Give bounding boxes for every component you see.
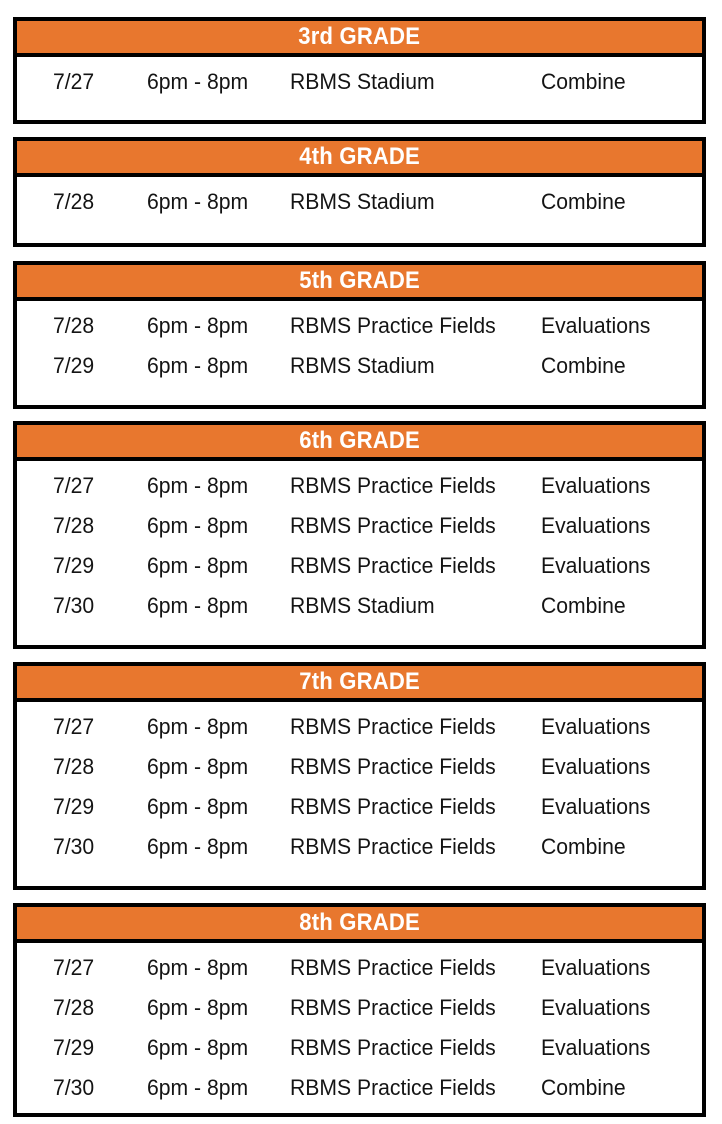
cell-date: 7/27: [53, 948, 94, 988]
grade-section-rows: 7/276pm - 8pmRBMS Practice FieldsEvaluat…: [17, 702, 702, 867]
table-row: 7/306pm - 8pmRBMS Practice FieldsCombine: [17, 1068, 702, 1108]
grade-section-header-label: 4th GRADE: [299, 145, 420, 169]
cell-type: Evaluations: [541, 948, 650, 988]
table-row: 7/276pm - 8pmRBMS StadiumCombine: [17, 62, 702, 102]
cell-date: 7/28: [53, 506, 94, 546]
cell-time: 6pm - 8pm: [147, 1028, 248, 1068]
cell-type: Evaluations: [541, 787, 650, 827]
table-row: 7/296pm - 8pmRBMS Practice FieldsEvaluat…: [17, 1028, 702, 1068]
cell-type: Evaluations: [541, 306, 650, 346]
grade-section: 7th GRADE7/276pm - 8pmRBMS Practice Fiel…: [13, 662, 706, 890]
cell-location: RBMS Practice Fields: [290, 827, 496, 867]
cell-time: 6pm - 8pm: [147, 827, 248, 867]
cell-location: RBMS Practice Fields: [290, 948, 496, 988]
cell-type: Combine: [541, 827, 626, 867]
grade-section-header-label: 8th GRADE: [299, 911, 420, 935]
cell-date: 7/29: [53, 1028, 94, 1068]
cell-time: 6pm - 8pm: [147, 787, 248, 827]
grade-section: 5th GRADE7/286pm - 8pmRBMS Practice Fiel…: [13, 261, 706, 409]
cell-location: RBMS Stadium: [290, 62, 435, 102]
table-row: 7/296pm - 8pmRBMS Practice FieldsEvaluat…: [17, 546, 702, 586]
cell-time: 6pm - 8pm: [147, 1068, 248, 1108]
cell-type: Combine: [541, 62, 626, 102]
grade-section-header-label: 7th GRADE: [299, 670, 420, 694]
cell-date: 7/30: [53, 1068, 94, 1108]
cell-type: Evaluations: [541, 1028, 650, 1068]
grade-section-header: 3rd GRADE: [17, 21, 702, 57]
cell-time: 6pm - 8pm: [147, 306, 248, 346]
cell-date: 7/29: [53, 787, 94, 827]
cell-type: Combine: [541, 346, 626, 386]
cell-time: 6pm - 8pm: [147, 466, 248, 506]
cell-location: RBMS Practice Fields: [290, 988, 496, 1028]
cell-location: RBMS Practice Fields: [290, 306, 496, 346]
grade-schedule-table: 3rd GRADE7/276pm - 8pmRBMS StadiumCombin…: [0, 0, 722, 1124]
cell-date: 7/29: [53, 346, 94, 386]
cell-date: 7/28: [53, 306, 94, 346]
grade-section-header-label: 3rd GRADE: [299, 25, 421, 49]
cell-type: Evaluations: [541, 466, 650, 506]
cell-time: 6pm - 8pm: [147, 546, 248, 586]
grade-section-header: 4th GRADE: [17, 141, 702, 177]
cell-time: 6pm - 8pm: [147, 988, 248, 1028]
grade-section: 6th GRADE7/276pm - 8pmRBMS Practice Fiel…: [13, 421, 706, 649]
cell-type: Evaluations: [541, 988, 650, 1028]
cell-location: RBMS Practice Fields: [290, 506, 496, 546]
table-row: 7/286pm - 8pmRBMS Practice FieldsEvaluat…: [17, 506, 702, 546]
grade-section-rows: 7/286pm - 8pmRBMS Practice FieldsEvaluat…: [17, 301, 702, 386]
cell-type: Evaluations: [541, 747, 650, 787]
table-row: 7/296pm - 8pmRBMS StadiumCombine: [17, 346, 702, 386]
cell-location: RBMS Stadium: [290, 586, 435, 626]
table-row: 7/286pm - 8pmRBMS StadiumCombine: [17, 182, 702, 222]
grade-section-header: 7th GRADE: [17, 666, 702, 702]
table-row: 7/286pm - 8pmRBMS Practice FieldsEvaluat…: [17, 306, 702, 346]
table-row: 7/276pm - 8pmRBMS Practice FieldsEvaluat…: [17, 707, 702, 747]
cell-date: 7/27: [53, 466, 94, 506]
cell-location: RBMS Practice Fields: [290, 787, 496, 827]
cell-type: Combine: [541, 182, 626, 222]
cell-location: RBMS Practice Fields: [290, 1028, 496, 1068]
grade-section-header: 5th GRADE: [17, 265, 702, 301]
cell-location: RBMS Practice Fields: [290, 1068, 496, 1108]
cell-type: Combine: [541, 1068, 626, 1108]
table-row: 7/296pm - 8pmRBMS Practice FieldsEvaluat…: [17, 787, 702, 827]
cell-time: 6pm - 8pm: [147, 586, 248, 626]
cell-location: RBMS Practice Fields: [290, 707, 496, 747]
cell-location: RBMS Practice Fields: [290, 747, 496, 787]
table-row: 7/286pm - 8pmRBMS Practice FieldsEvaluat…: [17, 988, 702, 1028]
cell-date: 7/27: [53, 62, 94, 102]
grade-section-rows: 7/276pm - 8pmRBMS Practice FieldsEvaluat…: [17, 461, 702, 626]
grade-section-header-label: 5th GRADE: [299, 269, 420, 293]
grade-section-rows: 7/276pm - 8pmRBMS Practice FieldsEvaluat…: [17, 943, 702, 1108]
grade-section: 4th GRADE7/286pm - 8pmRBMS StadiumCombin…: [13, 137, 706, 247]
cell-time: 6pm - 8pm: [147, 346, 248, 386]
grade-section-header: 6th GRADE: [17, 425, 702, 461]
cell-type: Evaluations: [541, 707, 650, 747]
cell-date: 7/28: [53, 988, 94, 1028]
cell-date: 7/28: [53, 747, 94, 787]
cell-date: 7/30: [53, 586, 94, 626]
grade-section-rows: 7/286pm - 8pmRBMS StadiumCombine: [17, 177, 702, 222]
cell-time: 6pm - 8pm: [147, 747, 248, 787]
cell-time: 6pm - 8pm: [147, 182, 248, 222]
cell-date: 7/29: [53, 546, 94, 586]
cell-type: Evaluations: [541, 506, 650, 546]
table-row: 7/306pm - 8pmRBMS StadiumCombine: [17, 586, 702, 626]
cell-location: RBMS Practice Fields: [290, 466, 496, 506]
cell-date: 7/27: [53, 707, 94, 747]
cell-location: RBMS Practice Fields: [290, 546, 496, 586]
grade-section-header: 8th GRADE: [17, 907, 702, 943]
grade-section-header-label: 6th GRADE: [299, 429, 420, 453]
table-row: 7/276pm - 8pmRBMS Practice FieldsEvaluat…: [17, 948, 702, 988]
cell-type: Evaluations: [541, 546, 650, 586]
table-row: 7/276pm - 8pmRBMS Practice FieldsEvaluat…: [17, 466, 702, 506]
cell-date: 7/30: [53, 827, 94, 867]
cell-location: RBMS Stadium: [290, 182, 435, 222]
grade-section-rows: 7/276pm - 8pmRBMS StadiumCombine: [17, 57, 702, 102]
cell-type: Combine: [541, 586, 626, 626]
grade-section: 3rd GRADE7/276pm - 8pmRBMS StadiumCombin…: [13, 17, 706, 124]
cell-time: 6pm - 8pm: [147, 707, 248, 747]
table-row: 7/306pm - 8pmRBMS Practice FieldsCombine: [17, 827, 702, 867]
cell-time: 6pm - 8pm: [147, 506, 248, 546]
grade-section: 8th GRADE7/276pm - 8pmRBMS Practice Fiel…: [13, 903, 706, 1117]
cell-time: 6pm - 8pm: [147, 948, 248, 988]
table-row: 7/286pm - 8pmRBMS Practice FieldsEvaluat…: [17, 747, 702, 787]
cell-date: 7/28: [53, 182, 94, 222]
cell-time: 6pm - 8pm: [147, 62, 248, 102]
cell-location: RBMS Stadium: [290, 346, 435, 386]
